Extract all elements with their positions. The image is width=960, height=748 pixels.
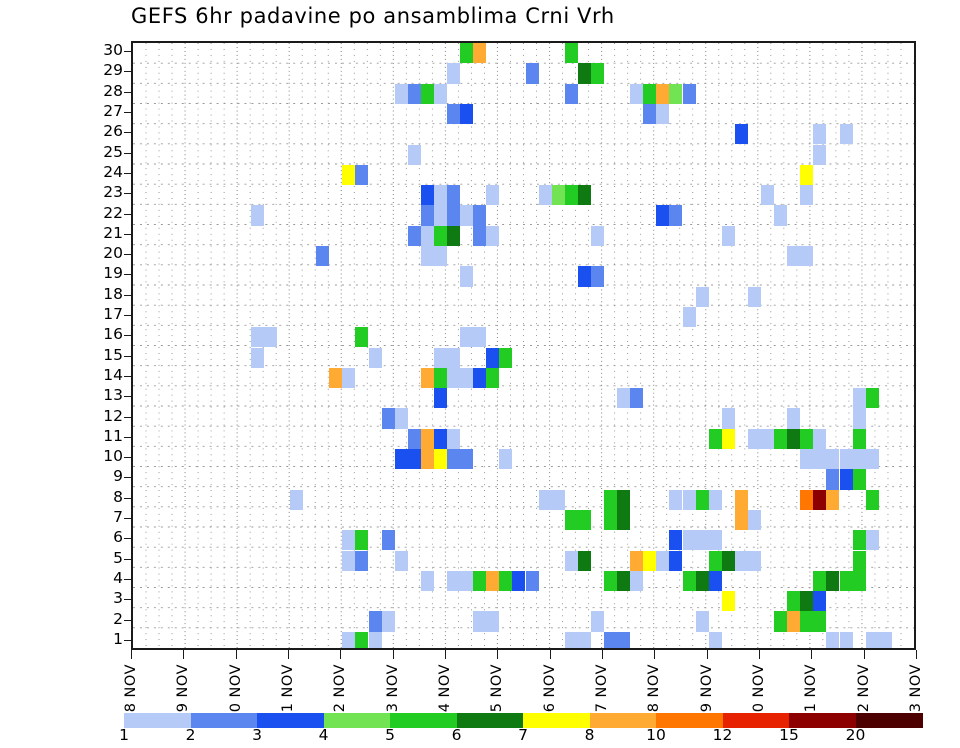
heatmap-cell[interactable] bbox=[355, 327, 368, 347]
x-tick-mark bbox=[811, 650, 812, 659]
heatmap-cell[interactable] bbox=[408, 429, 421, 449]
heatmap-cell[interactable] bbox=[434, 185, 447, 205]
colorbar-tick-label: 4 bbox=[304, 726, 344, 744]
heatmap-cell[interactable] bbox=[853, 449, 866, 469]
heatmap-cell[interactable] bbox=[853, 551, 866, 571]
heatmap-cell[interactable] bbox=[761, 429, 774, 449]
y-tick-label: 18 bbox=[93, 287, 123, 303]
heatmap-cell[interactable] bbox=[813, 591, 826, 611]
y-tick-mark bbox=[124, 295, 131, 296]
y-tick-label: 3 bbox=[93, 591, 123, 607]
heatmap-cell[interactable] bbox=[355, 632, 368, 650]
y-tick-label: 14 bbox=[93, 368, 123, 384]
heatmap-cell[interactable] bbox=[735, 510, 748, 530]
heatmap-cell[interactable] bbox=[473, 571, 486, 591]
heatmap-cell[interactable] bbox=[696, 490, 709, 510]
heatmap-cells[interactable] bbox=[133, 43, 914, 648]
y-tick-label: 2 bbox=[93, 612, 123, 628]
heatmap-cell[interactable] bbox=[591, 611, 604, 631]
heatmap-cell[interactable] bbox=[800, 185, 813, 205]
y-tick-label: 28 bbox=[93, 84, 123, 100]
heatmap-cell[interactable] bbox=[329, 368, 342, 388]
heatmap-cell[interactable] bbox=[526, 63, 539, 83]
x-axis: 08 NOV09 NOV10 NOV11 NOV12 NOV13 NOV14 N… bbox=[131, 650, 916, 710]
y-tick-mark bbox=[124, 620, 131, 621]
y-axis: 1234567891011121314151617181920212223242… bbox=[95, 41, 131, 650]
heatmap-cell[interactable] bbox=[643, 551, 656, 571]
heatmap-cell[interactable] bbox=[709, 632, 722, 650]
heatmap-cell[interactable] bbox=[761, 185, 774, 205]
heatmap-cell[interactable] bbox=[342, 165, 355, 185]
heatmap-cell[interactable] bbox=[722, 408, 735, 428]
y-tick-mark bbox=[124, 437, 131, 438]
heatmap-cell[interactable] bbox=[447, 205, 460, 225]
heatmap-cell[interactable] bbox=[486, 368, 499, 388]
heatmap-cell[interactable] bbox=[853, 429, 866, 449]
heatmap-cell[interactable] bbox=[447, 185, 460, 205]
colorbar-tick-label: 1 bbox=[104, 726, 144, 744]
heatmap-cell[interactable] bbox=[552, 185, 565, 205]
heatmap-cell[interactable] bbox=[604, 490, 617, 510]
heatmap-cell[interactable] bbox=[251, 348, 264, 368]
heatmap-cell[interactable] bbox=[355, 165, 368, 185]
heatmap-cell[interactable] bbox=[434, 226, 447, 246]
heatmap-cell[interactable] bbox=[656, 551, 669, 571]
heatmap-cell[interactable] bbox=[879, 632, 892, 650]
y-tick-mark bbox=[124, 417, 131, 418]
heatmap-cell[interactable] bbox=[421, 185, 434, 205]
y-tick-mark bbox=[124, 132, 131, 133]
heatmap-cell[interactable] bbox=[630, 551, 643, 571]
heatmap-cell[interactable] bbox=[565, 185, 578, 205]
heatmap-cell[interactable] bbox=[499, 348, 512, 368]
colorbar-tick-label: 15 bbox=[769, 726, 809, 744]
heatmap-cell[interactable] bbox=[369, 611, 382, 631]
y-tick-mark bbox=[124, 477, 131, 478]
y-tick-label: 11 bbox=[93, 429, 123, 445]
y-tick-label: 10 bbox=[93, 449, 123, 465]
heatmap-cell[interactable] bbox=[342, 530, 355, 550]
heatmap-cell[interactable] bbox=[408, 145, 421, 165]
heatmap-cell[interactable] bbox=[460, 266, 473, 286]
y-tick-label: 12 bbox=[93, 409, 123, 425]
heatmap-cell[interactable] bbox=[709, 551, 722, 571]
y-tick-mark bbox=[124, 559, 131, 560]
heatmap-cell[interactable] bbox=[800, 165, 813, 185]
heatmap-cell[interactable] bbox=[434, 429, 447, 449]
x-tick-mark bbox=[236, 650, 237, 659]
heatmap-cell[interactable] bbox=[840, 469, 853, 489]
x-tick-mark bbox=[340, 650, 341, 659]
heatmap-cell[interactable] bbox=[447, 571, 460, 591]
heatmap-cell[interactable] bbox=[355, 530, 368, 550]
heatmap-cell[interactable] bbox=[748, 429, 761, 449]
heatmap-cell[interactable] bbox=[565, 84, 578, 104]
heatmap-cell[interactable] bbox=[578, 632, 591, 650]
heatmap-cell[interactable] bbox=[369, 348, 382, 368]
heatmap-cell[interactable] bbox=[421, 368, 434, 388]
heatmap-cell[interactable] bbox=[264, 327, 277, 347]
y-tick-label: 8 bbox=[93, 490, 123, 506]
heatmap-cell[interactable] bbox=[578, 510, 591, 530]
heatmap-cell[interactable] bbox=[813, 571, 826, 591]
heatmap-cell[interactable] bbox=[709, 429, 722, 449]
heatmap-cell[interactable] bbox=[486, 185, 499, 205]
heatmap-cell[interactable] bbox=[591, 63, 604, 83]
heatmap-cell[interactable] bbox=[643, 84, 656, 104]
heatmap-cell[interactable] bbox=[866, 490, 879, 510]
heatmap-cell[interactable] bbox=[447, 368, 460, 388]
heatmap-cell[interactable] bbox=[565, 510, 578, 530]
colorbar-tick-label: 12 bbox=[703, 726, 743, 744]
heatmap-cell[interactable] bbox=[447, 429, 460, 449]
heatmap-cell[interactable] bbox=[787, 591, 800, 611]
y-tick-label: 6 bbox=[93, 530, 123, 546]
colorbar-tick-labels: 1234567810121520 bbox=[124, 726, 922, 748]
heatmap-cell[interactable] bbox=[499, 571, 512, 591]
heatmap-cell[interactable] bbox=[617, 510, 630, 530]
heatmap-cell[interactable] bbox=[813, 429, 826, 449]
heatmap-cell[interactable] bbox=[722, 429, 735, 449]
heatmap-cell[interactable] bbox=[473, 327, 486, 347]
y-tick-mark bbox=[124, 376, 131, 377]
heatmap-cell[interactable] bbox=[552, 490, 565, 510]
colorbar-tick-label: 2 bbox=[171, 726, 211, 744]
heatmap-cell[interactable] bbox=[696, 287, 709, 307]
heatmap-cell[interactable] bbox=[787, 429, 800, 449]
heatmap-cell[interactable] bbox=[735, 124, 748, 144]
heatmap-cell[interactable] bbox=[617, 388, 630, 408]
heatmap-cell[interactable] bbox=[473, 226, 486, 246]
y-tick-mark bbox=[124, 254, 131, 255]
heatmap-cell[interactable] bbox=[591, 266, 604, 286]
heatmap-cell[interactable] bbox=[800, 591, 813, 611]
x-tick-mark bbox=[654, 650, 655, 659]
y-tick-label: 5 bbox=[93, 551, 123, 567]
heatmap-cell[interactable] bbox=[382, 408, 395, 428]
heatmap-cell[interactable] bbox=[565, 551, 578, 571]
x-tick-mark bbox=[759, 650, 760, 659]
heatmap-cell[interactable] bbox=[486, 348, 499, 368]
heatmap-cell[interactable] bbox=[447, 348, 460, 368]
heatmap-cell[interactable] bbox=[421, 246, 434, 266]
heatmap-cell[interactable] bbox=[840, 632, 853, 650]
heatmap-cell[interactable] bbox=[434, 368, 447, 388]
heatmap-cell[interactable] bbox=[460, 449, 473, 469]
heatmap-cell[interactable] bbox=[866, 530, 879, 550]
y-tick-mark bbox=[124, 457, 131, 458]
x-tick-mark bbox=[131, 650, 132, 659]
heatmap-cell[interactable] bbox=[656, 84, 669, 104]
y-tick-label: 24 bbox=[93, 165, 123, 181]
heatmap-cell[interactable] bbox=[813, 145, 826, 165]
colorbar-tick-label: 6 bbox=[437, 726, 477, 744]
heatmap-cell[interactable] bbox=[826, 571, 839, 591]
y-tick-label: 29 bbox=[93, 63, 123, 79]
heatmap-cell[interactable] bbox=[840, 571, 853, 591]
y-tick-label: 25 bbox=[93, 145, 123, 161]
y-tick-label: 15 bbox=[93, 348, 123, 364]
y-tick-label: 21 bbox=[93, 226, 123, 242]
heatmap-cell[interactable] bbox=[395, 449, 408, 469]
heatmap-cell[interactable] bbox=[722, 551, 735, 571]
heatmap-cell[interactable] bbox=[866, 388, 879, 408]
heatmap-cell[interactable] bbox=[565, 632, 578, 650]
heatmap-cell[interactable] bbox=[683, 571, 696, 591]
y-tick-mark bbox=[124, 71, 131, 72]
heatmap-cell[interactable] bbox=[408, 226, 421, 246]
heatmap-cell[interactable] bbox=[604, 632, 617, 650]
heatmap-cell[interactable] bbox=[473, 43, 486, 63]
heatmap-cell[interactable] bbox=[669, 490, 682, 510]
x-tick-mark bbox=[916, 650, 917, 659]
y-tick-mark bbox=[124, 579, 131, 580]
heatmap-cell[interactable] bbox=[669, 530, 682, 550]
heatmap-cell[interactable] bbox=[709, 490, 722, 510]
heatmap-cell[interactable] bbox=[342, 551, 355, 571]
heatmap-cell[interactable] bbox=[840, 124, 853, 144]
heatmap-cell[interactable] bbox=[800, 449, 813, 469]
heatmap-cell[interactable] bbox=[460, 205, 473, 225]
heatmap-cell[interactable] bbox=[774, 429, 787, 449]
heatmap-cell[interactable] bbox=[434, 449, 447, 469]
heatmap-cell[interactable] bbox=[813, 611, 826, 631]
heatmap-cell[interactable] bbox=[578, 63, 591, 83]
heatmap-cell[interactable] bbox=[787, 611, 800, 631]
heatmap-cell[interactable] bbox=[408, 84, 421, 104]
y-tick-mark bbox=[124, 51, 131, 52]
heatmap-cell[interactable] bbox=[578, 551, 591, 571]
heatmap-cell[interactable] bbox=[460, 327, 473, 347]
y-tick-mark bbox=[124, 153, 131, 154]
y-tick-mark bbox=[124, 112, 131, 113]
heatmap-cell[interactable] bbox=[787, 246, 800, 266]
y-tick-label: 27 bbox=[93, 104, 123, 120]
heatmap-cell[interactable] bbox=[447, 63, 460, 83]
x-tick-mark bbox=[497, 650, 498, 659]
heatmap-cell[interactable] bbox=[813, 124, 826, 144]
heatmap-cell[interactable] bbox=[473, 611, 486, 631]
x-tick-mark bbox=[550, 650, 551, 659]
heatmap-cell[interactable] bbox=[722, 226, 735, 246]
heatmap-cell[interactable] bbox=[617, 571, 630, 591]
y-tick-label: 17 bbox=[93, 307, 123, 323]
heatmap-cell[interactable] bbox=[683, 490, 696, 510]
heatmap-cell[interactable] bbox=[434, 388, 447, 408]
heatmap-cell[interactable] bbox=[604, 571, 617, 591]
heatmap-cell[interactable] bbox=[709, 530, 722, 550]
y-tick-mark bbox=[124, 356, 131, 357]
heatmap-cell[interactable] bbox=[395, 84, 408, 104]
heatmap-cell[interactable] bbox=[800, 490, 813, 510]
heatmap-cell[interactable] bbox=[369, 632, 382, 650]
heatmap-cell[interactable] bbox=[421, 429, 434, 449]
heatmap-cell[interactable] bbox=[486, 226, 499, 246]
heatmap-cell[interactable] bbox=[342, 368, 355, 388]
heatmap-cell[interactable] bbox=[774, 205, 787, 225]
heatmap-cell[interactable] bbox=[316, 246, 329, 266]
x-tick-mark bbox=[707, 650, 708, 659]
heatmap-cell[interactable] bbox=[722, 591, 735, 611]
heatmap-cell[interactable] bbox=[800, 611, 813, 631]
heatmap-cell[interactable] bbox=[800, 429, 813, 449]
heatmap-cell[interactable] bbox=[355, 551, 368, 571]
heatmap-cell[interactable] bbox=[826, 490, 839, 510]
heatmap-cell[interactable] bbox=[460, 43, 473, 63]
heatmap-cell[interactable] bbox=[395, 551, 408, 571]
heatmap-cell[interactable] bbox=[826, 449, 839, 469]
heatmap-cell[interactable] bbox=[421, 84, 434, 104]
heatmap-cell[interactable] bbox=[434, 205, 447, 225]
y-tick-mark bbox=[124, 396, 131, 397]
heatmap-cell[interactable] bbox=[421, 571, 434, 591]
y-tick-label: 7 bbox=[93, 510, 123, 526]
heatmap-cell[interactable] bbox=[434, 348, 447, 368]
y-tick-mark bbox=[124, 538, 131, 539]
heatmap-cell[interactable] bbox=[748, 551, 761, 571]
heatmap-cell[interactable] bbox=[434, 84, 447, 104]
heatmap-cell[interactable] bbox=[866, 632, 879, 650]
heatmap-cell[interactable] bbox=[669, 205, 682, 225]
heatmap-cell[interactable] bbox=[395, 408, 408, 428]
heatmap-cell[interactable] bbox=[669, 84, 682, 104]
heatmap-cell[interactable] bbox=[499, 449, 512, 469]
y-tick-mark bbox=[124, 193, 131, 194]
y-tick-mark bbox=[124, 234, 131, 235]
heatmap-cell[interactable] bbox=[617, 490, 630, 510]
heatmap-cell[interactable] bbox=[447, 226, 460, 246]
heatmap-cell[interactable] bbox=[565, 43, 578, 63]
heatmap-cell[interactable] bbox=[512, 571, 525, 591]
x-tick-mark bbox=[288, 650, 289, 659]
heatmap-cell[interactable] bbox=[853, 388, 866, 408]
heatmap-cell[interactable] bbox=[866, 449, 879, 469]
heatmap-cell[interactable] bbox=[735, 490, 748, 510]
heatmap-cell[interactable] bbox=[813, 449, 826, 469]
heatmap-cell[interactable] bbox=[656, 205, 669, 225]
heatmap-cell[interactable] bbox=[709, 571, 722, 591]
heatmap-cell[interactable] bbox=[787, 408, 800, 428]
heatmap-cell[interactable] bbox=[853, 530, 866, 550]
y-tick-label: 26 bbox=[93, 124, 123, 140]
heatmap-cell[interactable] bbox=[774, 611, 787, 631]
y-tick-mark bbox=[124, 640, 131, 641]
colorbar-tick-label: 3 bbox=[237, 726, 277, 744]
heatmap-cell[interactable] bbox=[486, 611, 499, 631]
plot-area[interactable] bbox=[131, 41, 916, 650]
heatmap-cell[interactable] bbox=[473, 205, 486, 225]
x-tick-mark bbox=[393, 650, 394, 659]
heatmap-cell[interactable] bbox=[617, 632, 630, 650]
y-tick-mark bbox=[124, 315, 131, 316]
heatmap-cell[interactable] bbox=[683, 530, 696, 550]
heatmap-cell[interactable] bbox=[840, 449, 853, 469]
heatmap-cell[interactable] bbox=[800, 246, 813, 266]
heatmap-cell[interactable] bbox=[539, 185, 552, 205]
y-tick-label: 30 bbox=[93, 43, 123, 59]
heatmap-cell[interactable] bbox=[853, 469, 866, 489]
y-tick-label: 13 bbox=[93, 388, 123, 404]
heatmap-cell[interactable] bbox=[630, 571, 643, 591]
chart-figure: GEFS 6hr padavine po ansamblima Crni Vrh… bbox=[0, 0, 960, 742]
heatmap-cell[interactable] bbox=[460, 368, 473, 388]
heatmap-cell[interactable] bbox=[683, 307, 696, 327]
heatmap-cell[interactable] bbox=[421, 226, 434, 246]
heatmap-cell[interactable] bbox=[486, 571, 499, 591]
heatmap-cell[interactable] bbox=[473, 368, 486, 388]
y-tick-label: 1 bbox=[93, 632, 123, 648]
heatmap-cell[interactable] bbox=[447, 104, 460, 124]
heatmap-cell[interactable] bbox=[421, 449, 434, 469]
heatmap-cell[interactable] bbox=[748, 510, 761, 530]
y-tick-mark bbox=[124, 498, 131, 499]
heatmap-cell[interactable] bbox=[290, 490, 303, 510]
heatmap-cell[interactable] bbox=[813, 490, 826, 510]
heatmap-cell[interactable] bbox=[630, 84, 643, 104]
heatmap-cell[interactable] bbox=[643, 104, 656, 124]
heatmap-cell[interactable] bbox=[853, 571, 866, 591]
y-tick-mark bbox=[124, 92, 131, 93]
heatmap-cell[interactable] bbox=[826, 469, 839, 489]
heatmap-cell[interactable] bbox=[251, 205, 264, 225]
heatmap-cell[interactable] bbox=[696, 571, 709, 591]
heatmap-cell[interactable] bbox=[604, 510, 617, 530]
y-tick-label: 19 bbox=[93, 266, 123, 282]
heatmap-cell[interactable] bbox=[748, 287, 761, 307]
heatmap-cell[interactable] bbox=[696, 611, 709, 631]
heatmap-cell[interactable] bbox=[342, 632, 355, 650]
y-tick-mark bbox=[124, 214, 131, 215]
heatmap-cell[interactable] bbox=[526, 571, 539, 591]
heatmap-cell[interactable] bbox=[735, 551, 748, 571]
heatmap-cell[interactable] bbox=[578, 185, 591, 205]
heatmap-cell[interactable] bbox=[630, 388, 643, 408]
x-tick-mark bbox=[445, 650, 446, 659]
colorbar-tick-label: 7 bbox=[503, 726, 543, 744]
heatmap-cell[interactable] bbox=[539, 490, 552, 510]
heatmap-cell[interactable] bbox=[421, 205, 434, 225]
heatmap-cell[interactable] bbox=[447, 449, 460, 469]
y-tick-label: 16 bbox=[93, 327, 123, 343]
y-tick-mark bbox=[124, 274, 131, 275]
heatmap-cell[interactable] bbox=[382, 530, 395, 550]
heatmap-cell[interactable] bbox=[382, 611, 395, 631]
heatmap-cell[interactable] bbox=[434, 246, 447, 266]
y-tick-mark bbox=[124, 518, 131, 519]
y-tick-label: 23 bbox=[93, 185, 123, 201]
heatmap-cell[interactable] bbox=[578, 266, 591, 286]
heatmap-cell[interactable] bbox=[460, 571, 473, 591]
heatmap-cell[interactable] bbox=[683, 84, 696, 104]
x-tick-mark bbox=[602, 650, 603, 659]
y-tick-label: 4 bbox=[93, 571, 123, 587]
heatmap-cell[interactable] bbox=[826, 632, 839, 650]
y-tick-label: 20 bbox=[93, 246, 123, 262]
heatmap-cell[interactable] bbox=[460, 104, 473, 124]
chart-title: GEFS 6hr padavine po ansamblima Crni Vrh bbox=[131, 2, 691, 30]
heatmap-cell[interactable] bbox=[591, 226, 604, 246]
heatmap-cell[interactable] bbox=[669, 551, 682, 571]
heatmap-cell[interactable] bbox=[656, 104, 669, 124]
heatmap-cell[interactable] bbox=[696, 530, 709, 550]
colorbar-tick-label: 5 bbox=[370, 726, 410, 744]
heatmap-cell[interactable] bbox=[408, 449, 421, 469]
heatmap-cell[interactable] bbox=[251, 327, 264, 347]
colorbar-tick-label: 10 bbox=[636, 726, 676, 744]
y-tick-mark bbox=[124, 335, 131, 336]
heatmap-cell[interactable] bbox=[853, 408, 866, 428]
y-tick-mark bbox=[124, 599, 131, 600]
